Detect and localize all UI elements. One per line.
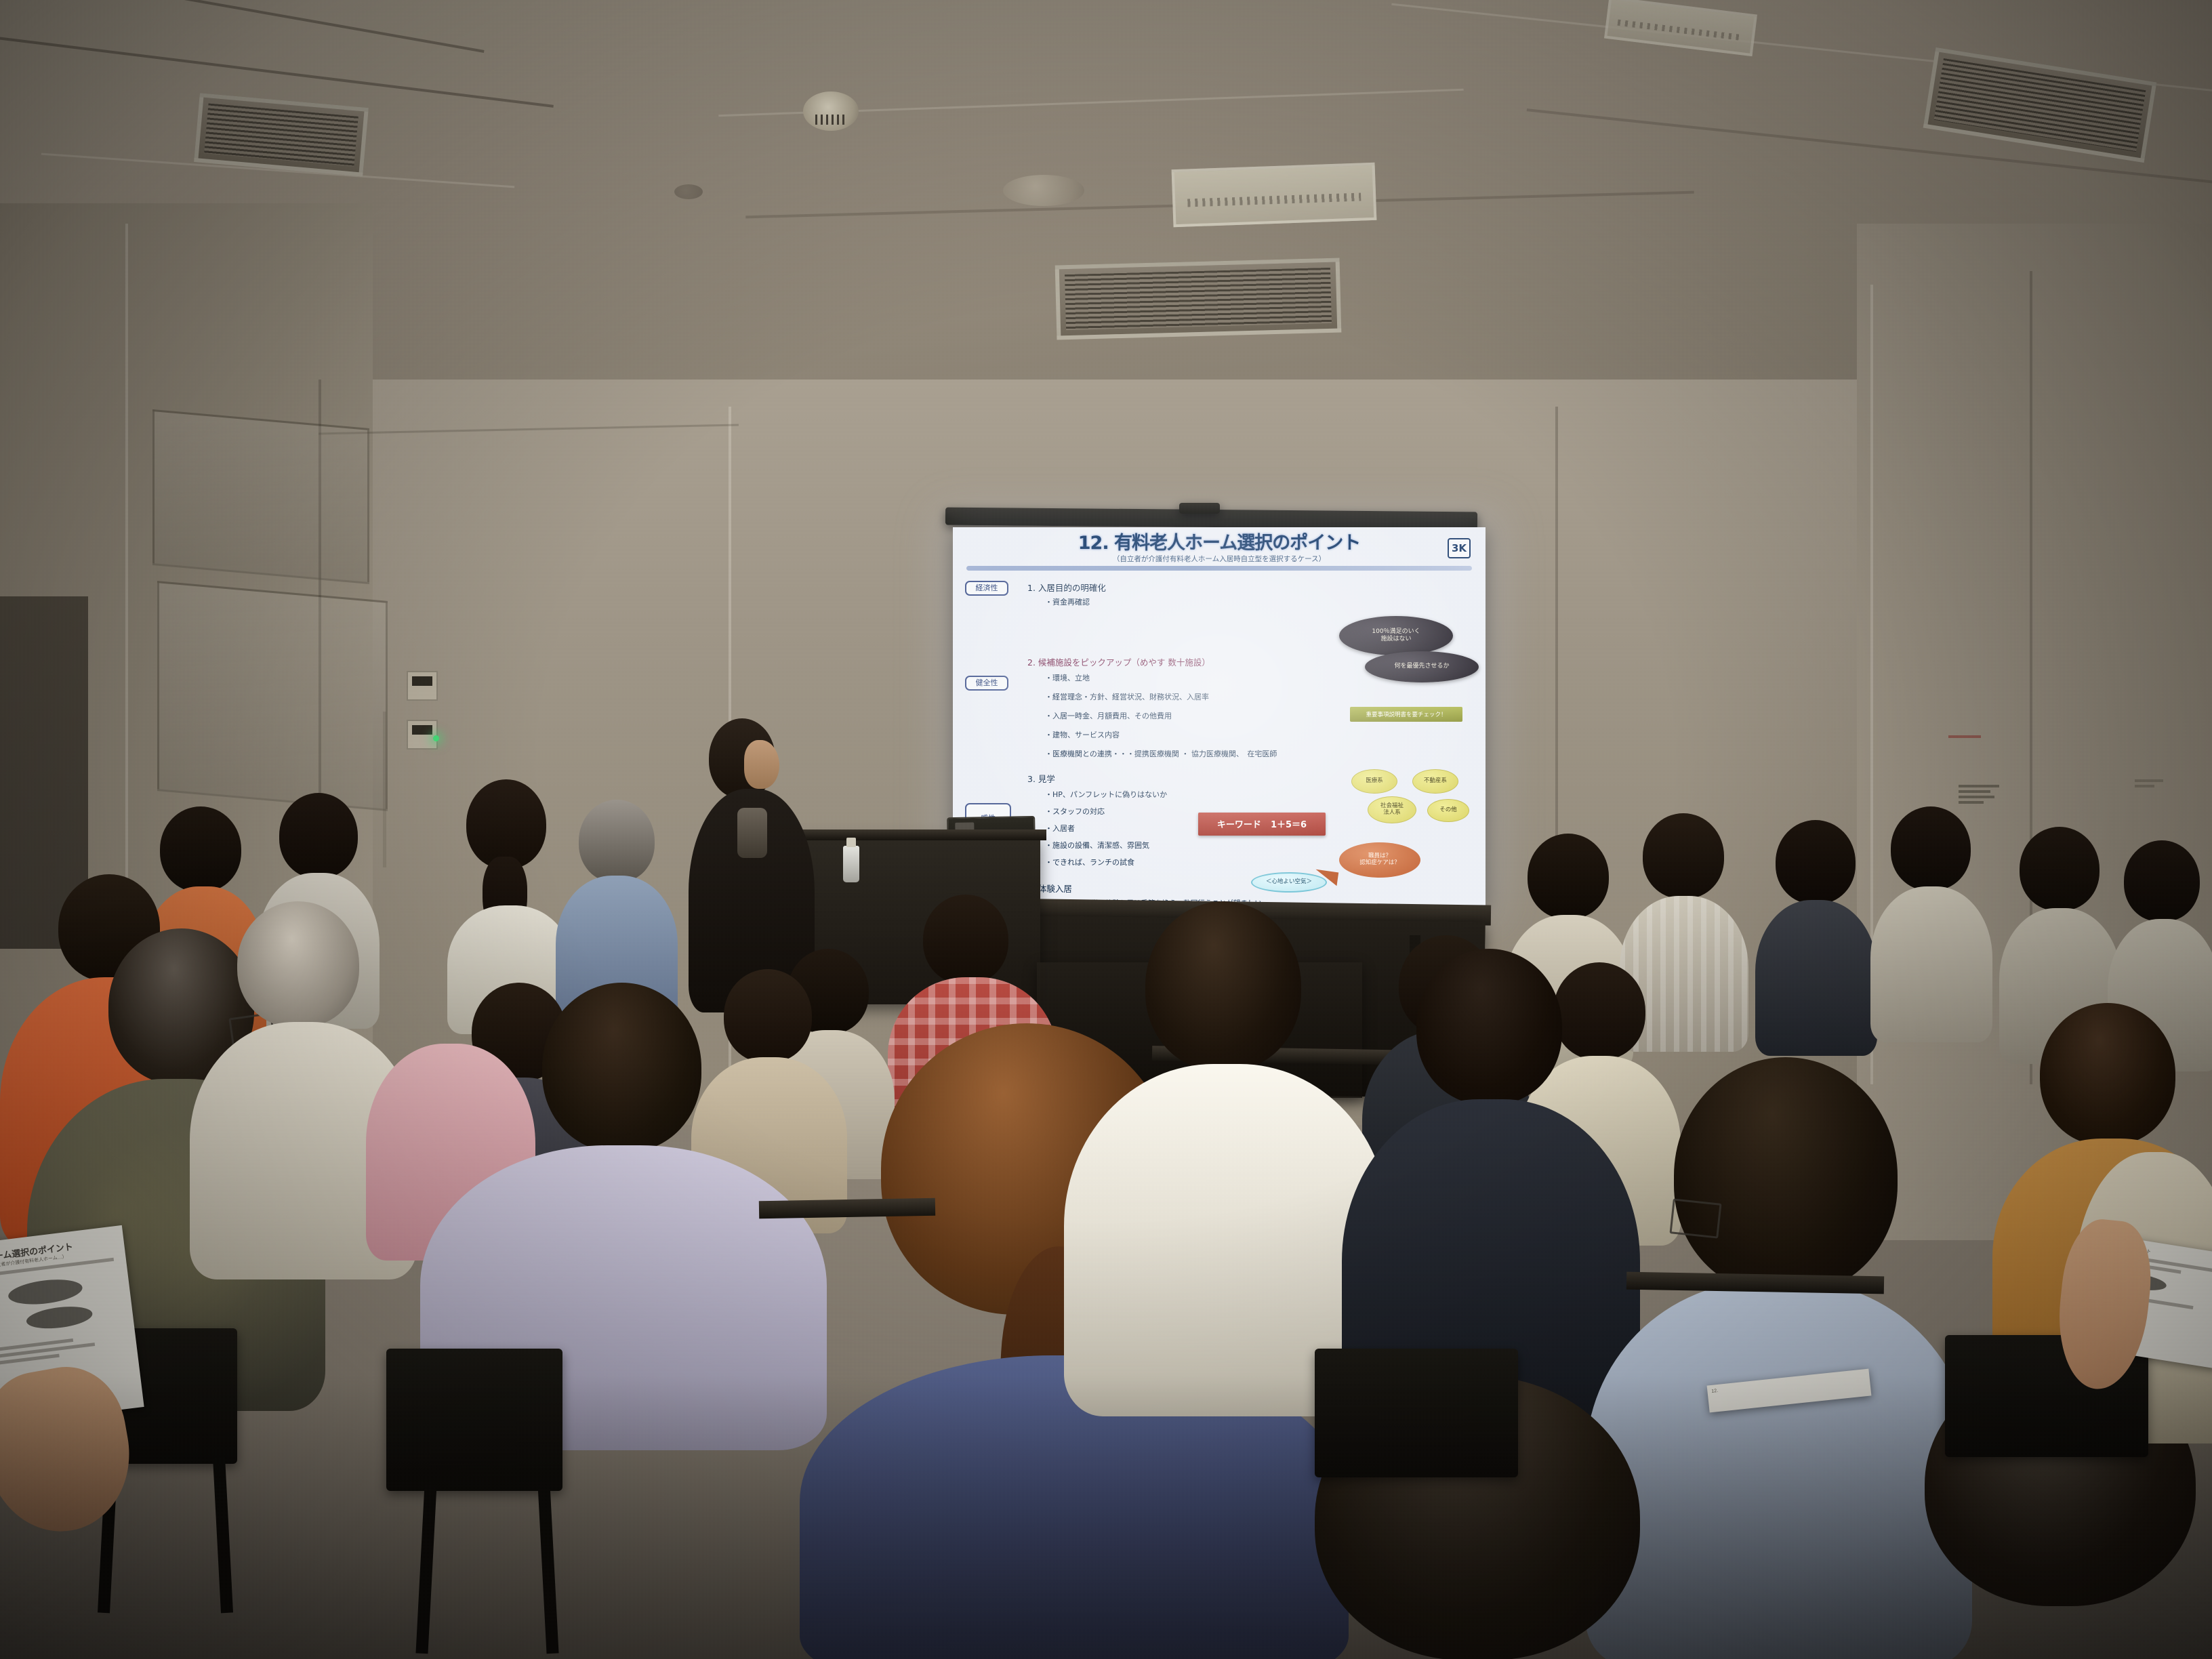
attendee-back-right-5 xyxy=(1999,827,2121,1030)
callout-dark-1: 100％満足のいく 施設はない xyxy=(1339,616,1453,655)
slide-title: 12. 有料老人ホーム選択のポイント xyxy=(962,534,1476,553)
slide-bullet-1-0: ・資金再確認 xyxy=(1045,596,1090,607)
attendee-back-left-1 xyxy=(447,779,573,983)
slide-section-1: 1. 入居目的の明確化 xyxy=(1027,581,1106,594)
seminar-room-photo: 12. 有料老人ホーム選択のポイント 3K （自立者が介護付有料老人ホーム入居時… xyxy=(0,0,2212,1659)
wall-notice-upper xyxy=(1948,735,1981,741)
callout-orange-question: 職員は？ 認知症ケアは？ xyxy=(1339,842,1420,878)
slide-bullet-2-2: ・入居一時金、月額費用、その他費用 xyxy=(1045,710,1172,721)
wall-notice-lower xyxy=(1959,785,1999,806)
screen-roller-knob xyxy=(1179,503,1220,514)
chair-leg-left-1b xyxy=(213,1457,233,1614)
air-vent-left xyxy=(194,93,369,176)
slide-tag-economy: 経済性 xyxy=(965,581,1008,596)
callout-yellow-welfare: 社会福祉 法人系 xyxy=(1368,796,1416,823)
slide-bullet-3-4: ・できれば、ランチの試食 xyxy=(1045,857,1134,867)
keyword-value: 1＋5＝6 xyxy=(1271,817,1307,830)
ceiling-speaker xyxy=(1003,175,1084,206)
slide-bullet-3-3: ・施設の設備、清潔感、雰囲気 xyxy=(1045,840,1149,851)
light-switch-plate-lower[interactable] xyxy=(407,720,438,750)
attendee-back-right-4 xyxy=(1870,806,1992,1010)
ceiling-light-panel-far xyxy=(1604,0,1757,56)
attendee-back-left-2 xyxy=(556,800,678,1003)
callout-yellow-medical: 医療系 xyxy=(1351,769,1397,794)
callout-keyword-bar: キーワード 1＋5＝6 xyxy=(1198,813,1326,836)
glasses-icon xyxy=(1669,1198,1721,1238)
slide-divider-rule xyxy=(966,566,1472,571)
callout-cyan-oval: ＜心地よい空気＞ xyxy=(1251,872,1327,893)
slide-bullet-2-1: ・経営理念・方針、経営状況、財務状況、入居率 xyxy=(1045,691,1209,702)
slide-section-3: 3. 見学 xyxy=(1027,772,1055,785)
slide-section-2: 2. 候補施設をピックアップ（めやす 数十施設） xyxy=(1027,655,1210,668)
air-vent-right xyxy=(1923,47,2157,163)
slide-subtitle: （自立者が介護付有料老人ホーム入居時自立型を選択するケース） xyxy=(962,554,1476,564)
keyword-label: キーワード xyxy=(1217,817,1261,830)
slide-bullet-3-0: ・HP、パンフレットに偽りはないか xyxy=(1045,789,1167,800)
slide-tag-soundness: 健全性 xyxy=(965,676,1008,691)
chair-left-2[interactable] xyxy=(386,1349,562,1491)
callout-yellow-realestate: 不動産系 xyxy=(1412,769,1458,794)
callout-green-bar: 重要事項説明書を要チェック！ xyxy=(1350,707,1462,722)
air-vent-center xyxy=(1055,258,1342,340)
attendee-front-white-shirt xyxy=(1064,901,1382,1410)
chair-leg-left-2 xyxy=(415,1484,436,1654)
water-bottle[interactable] xyxy=(843,846,859,882)
wall-notice-far-right xyxy=(2135,779,2163,790)
chair-centre-right[interactable] xyxy=(1315,1349,1518,1477)
status-led-icon xyxy=(433,735,439,741)
callout-dark-2: 何を最優先させるか xyxy=(1365,651,1479,682)
ceiling-light-panel xyxy=(1172,163,1377,227)
presenter-blouse xyxy=(737,808,767,858)
sprinkler-head xyxy=(803,91,859,131)
callout-yellow-other: その他 xyxy=(1427,799,1469,822)
lectern-top-edge xyxy=(792,829,1046,840)
desk-edge-midleft xyxy=(759,1198,935,1219)
slide-bullet-3-1: ・スタッフの対応 xyxy=(1045,806,1105,817)
wall-panel-upper xyxy=(152,409,369,584)
wall-panel-lower xyxy=(157,581,388,811)
smoke-detector xyxy=(674,184,703,199)
light-switch-plate-upper[interactable] xyxy=(407,671,438,701)
presenter-face xyxy=(744,740,779,789)
slide-bullet-2-0: ・環境、立地 xyxy=(1045,672,1090,683)
attendee-head xyxy=(1674,1057,1898,1294)
slide-bullet-2-4: ・医療機関との連携・・・提携医療機関 ・ 協力医療機関、 在宅医師 xyxy=(1045,748,1277,759)
slide-bullet-3-2: ・入居者 xyxy=(1045,823,1075,834)
attendee-back-right-3 xyxy=(1755,820,1877,1023)
chair-leg-left-2b xyxy=(537,1484,558,1654)
slide-bullet-2-3: ・建物、サービス内容 xyxy=(1045,729,1120,740)
